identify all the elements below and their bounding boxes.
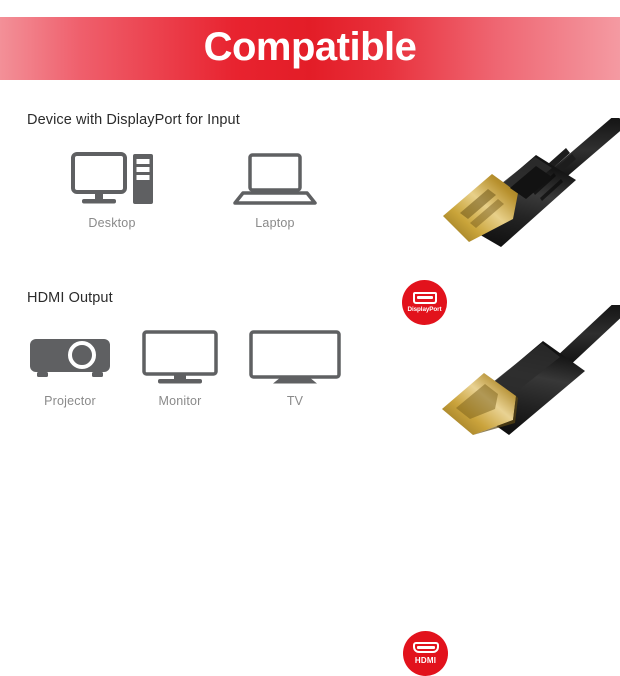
device-list-displayport: Desktop Laptop [0,148,390,258]
device-item-monitor: Monitor [120,326,240,408]
section-title-hdmi: HDMI Output [27,290,113,306]
device-label-monitor: Monitor [120,394,240,408]
monitor-icon [130,326,230,388]
laptop-icon [225,148,325,210]
hdmi-cable-illustration [440,305,620,450]
device-item-projector: Projector [10,326,130,408]
displayport-cable-illustration [440,118,620,253]
badge-label-hdmi: HDMI [415,657,436,665]
page-title: Compatible [204,27,417,70]
device-label-laptop: Laptop [215,216,335,230]
hdmi-connector-icon [413,642,439,653]
device-item-tv: TV [235,326,355,408]
device-label-projector: Projector [10,394,130,408]
device-label-tv: TV [235,394,355,408]
desktop-computer-icon [62,148,162,210]
badge-hdmi: HDMI [403,631,448,676]
projector-icon [20,326,120,388]
header-banner: Compatible [0,17,620,80]
tv-icon [245,326,345,388]
device-list-hdmi: Projector Monitor TV [0,326,390,436]
device-item-desktop: Desktop [52,148,172,230]
device-label-desktop: Desktop [52,216,172,230]
device-item-laptop: Laptop [215,148,335,230]
section-title-displayport: Device with DisplayPort for Input [27,112,240,128]
